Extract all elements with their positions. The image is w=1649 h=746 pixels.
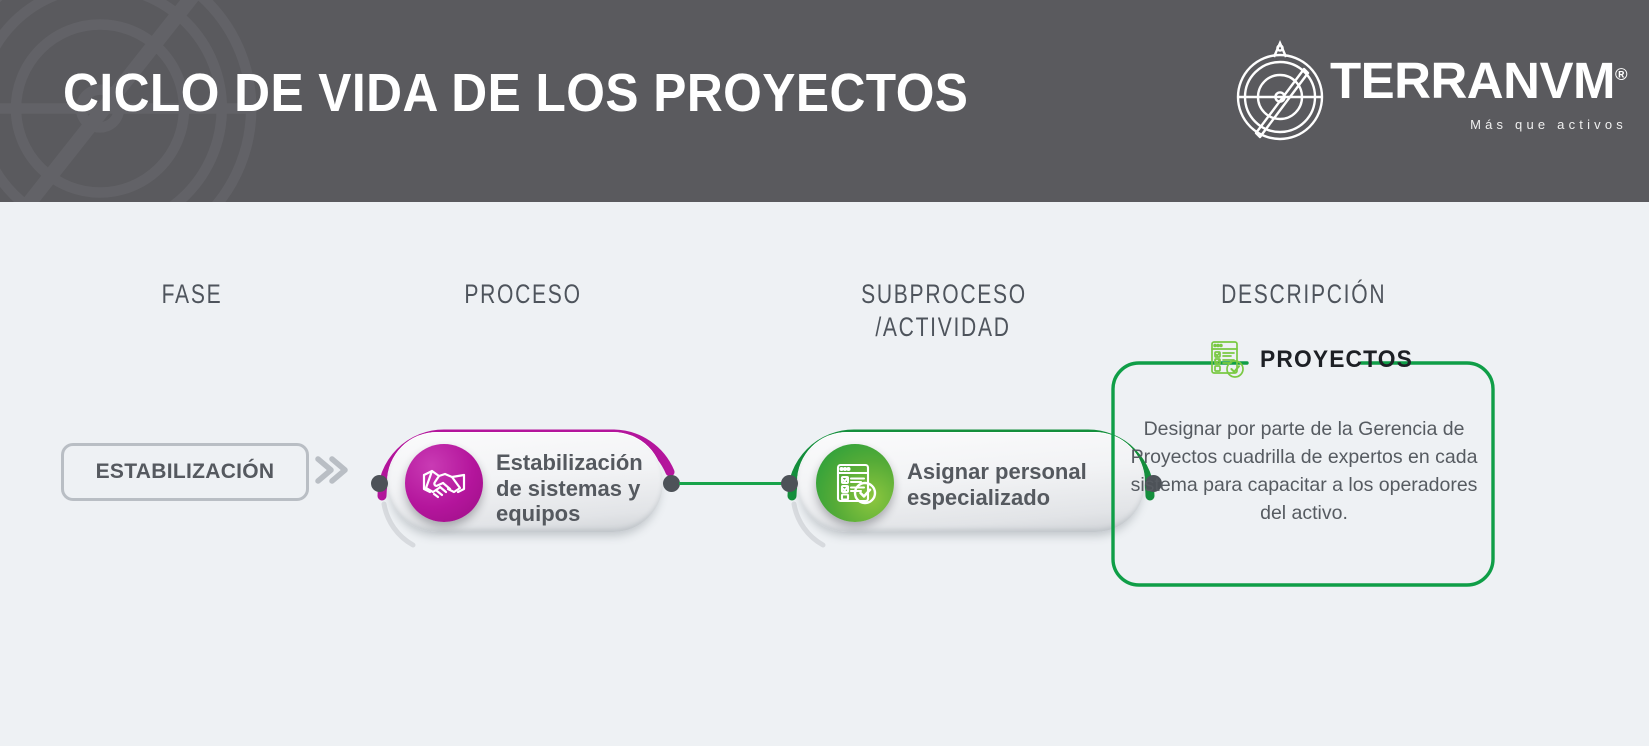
registered-mark-icon: ® [1615, 65, 1627, 84]
checklist-icon-badge [816, 444, 894, 522]
column-header-descripcion: DESCRIPCIÓN [1221, 278, 1385, 311]
brand-logo: TERRANVM® Más que activos [1232, 35, 1627, 155]
checklist-check-icon [1208, 339, 1248, 381]
description-text: Designar por parte de la Gerencia de Pro… [1130, 415, 1478, 527]
brand-tagline: Más que activos [1470, 117, 1627, 132]
description-panel: PROYECTOS Designar por parte de la Geren… [1104, 363, 1502, 585]
column-header-fase: FASE [114, 278, 270, 311]
column-header-proceso: PROCESO [445, 278, 601, 311]
phase-label: ESTABILIZACIÓN [96, 460, 275, 484]
process-node-label: Estabilización de sistemas y equipos [496, 450, 671, 527]
description-title: PROYECTOS [1260, 346, 1413, 374]
column-header-subproceso: SUBPROCESO /ACTIVIDAD [861, 278, 1025, 344]
checklist-check-icon [830, 458, 880, 508]
subnode-connector-dot-left [781, 475, 798, 492]
page-title: CICLO DE VIDA DE LOS PROYECTOS [63, 62, 968, 124]
brand-name-text: TERRANVM [1330, 52, 1615, 109]
page-header: CICLO DE VIDA DE LOS PROYECTOS TERRANVM®… [0, 0, 1649, 202]
compass-emblem-icon [1232, 35, 1328, 147]
brand-name: TERRANVM® [1330, 55, 1627, 106]
node-connector-line [679, 482, 789, 485]
diagram-canvas: CICLO DE VIDA DE LOS PROYECTOS TERRANVM®… [0, 0, 1649, 746]
handshake-icon-badge [405, 444, 483, 522]
phase-pill-estabilizacion[interactable]: ESTABILIZACIÓN [61, 443, 309, 501]
node-connector-dot-left [371, 475, 388, 492]
handshake-icon [419, 458, 469, 508]
double-chevron-arrow-icon [312, 448, 352, 496]
node-connector-dot-right [663, 475, 680, 492]
